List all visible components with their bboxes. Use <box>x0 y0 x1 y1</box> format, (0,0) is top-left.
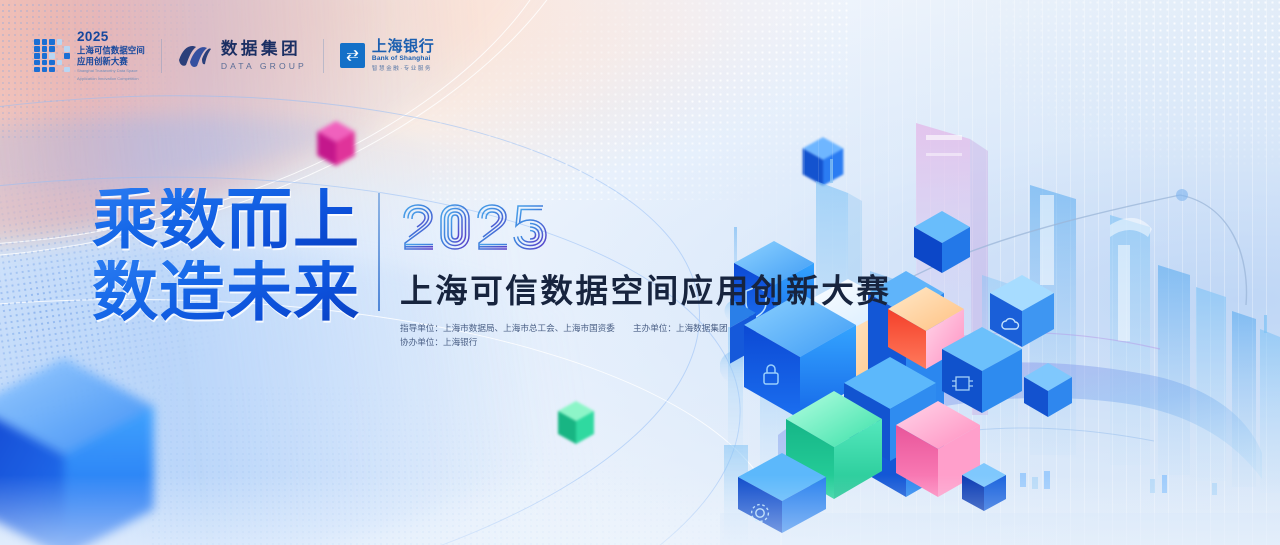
green-cube <box>556 400 596 446</box>
contest-logo-name-line2: 应用创新大赛 <box>77 57 145 66</box>
cube-cloud <box>990 275 1054 347</box>
logo-divider-1 <box>161 39 162 73</box>
event-banner: 2025 上海可信数据空间 应用创新大赛 Shanghai Trustworth… <box>0 0 1280 545</box>
data-group-name-en: DATA GROUP <box>221 62 307 71</box>
bank-of-shanghai-logo: 上海银行 Bank of Shanghai 智慧金融·专业服务 <box>340 39 434 73</box>
logo-strip: 2025 上海可信数据空间 应用创新大赛 Shanghai Trustworth… <box>34 30 434 82</box>
data-group-swoosh-icon <box>178 43 212 68</box>
event-title-block: 上海可信数据空间应用创新大赛 指导单位：上海市数据局、上海市总工会、上海市国资委… <box>400 190 891 350</box>
data-group-name-cn: 数据集团 <box>221 41 307 58</box>
contest-logo-name-en-line2: Application Innovation Competition <box>77 76 145 82</box>
event-title-cn: 上海可信数据空间应用创新大赛 <box>400 275 891 308</box>
contest-logo-name-line1: 上海可信数据空间 <box>77 46 145 55</box>
bank-name-cn: 上海银行 <box>372 39 434 54</box>
credits-cohost-units: 协办单位：上海银行 <box>400 335 633 350</box>
bank-of-shanghai-icon <box>340 43 365 68</box>
cube-small-right-1 <box>1024 363 1072 417</box>
headline-divider <box>378 193 380 311</box>
large-blue-cube <box>0 352 162 545</box>
contest-logo: 2025 上海可信数据空间 应用创新大赛 Shanghai Trustworth… <box>34 30 145 82</box>
data-group-logo: 数据集团 DATA GROUP <box>178 41 307 70</box>
event-year-2025 <box>400 190 600 268</box>
halftone-dots-bottom <box>150 385 770 545</box>
headline-block: 乘数而上 数造未来 <box>92 188 360 324</box>
headline-line-2: 数造未来 <box>92 260 360 324</box>
contest-logo-name-en-line1: Shanghai Trustworthy Data Space <box>77 68 145 74</box>
credits-block: 指导单位：上海市数据局、上海市总工会、上海市国资委 协办单位：上海银行 主办单位… <box>400 321 891 350</box>
credits-guidance-units: 指导单位：上海市数据局、上海市总工会、上海市国资委 <box>400 321 633 336</box>
contest-logo-year: 2025 <box>77 30 145 44</box>
pixel-grid-icon <box>34 39 70 72</box>
bank-name-en: Bank of Shanghai <box>372 56 434 63</box>
pink-cube <box>315 120 357 168</box>
logo-divider-2 <box>323 39 324 73</box>
credits-host-units: 主办单位：上海数据集团 <box>633 321 728 336</box>
headline-line-1: 乘数而上 <box>92 188 360 252</box>
bank-tagline: 智慧金融·专业服务 <box>372 67 434 73</box>
cube-small-right-3 <box>914 211 970 273</box>
